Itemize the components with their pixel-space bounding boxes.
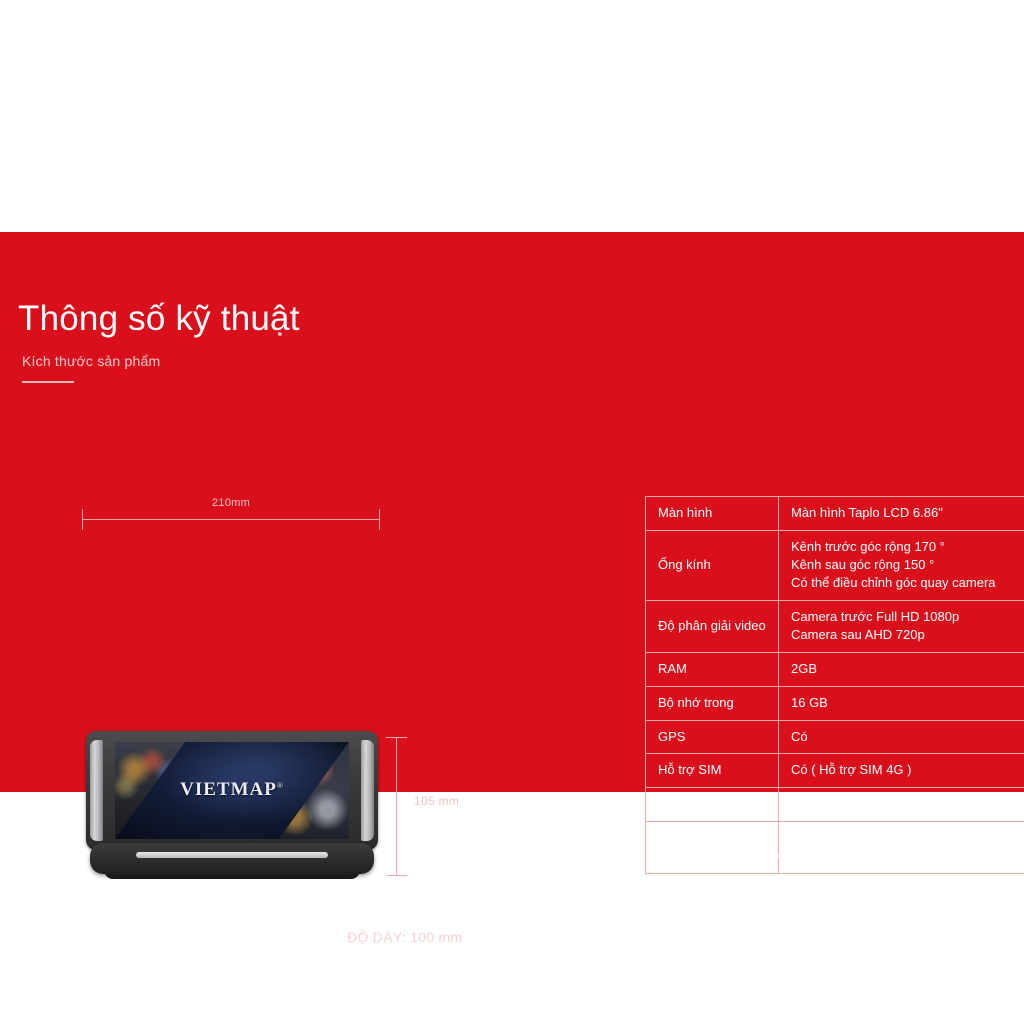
height-dimension-marker: 105 mm [378,734,488,879]
title-underline-rule [22,381,74,383]
spec-value-line: MicroSD card (Hỗ trợ thẻ tối đa [791,829,1024,847]
spec-value-line: Có thể điều chỉnh góc quay camera [791,574,1024,592]
table-row: Hỗ trợ SIMCó ( Hỗ trợ SIM 4G ) [646,754,1024,788]
spec-value-line: Kênh sau góc rộng 150 ° [791,556,1024,574]
width-dimension-right-cap [379,509,380,530]
thickness-swatch [313,926,335,948]
specification-note: Cần tối thiểu thẻ nhớ MicroSD 8GB Class … [650,848,995,867]
spec-value-line: Màn hình Taplo LCD 6.86" [791,504,1024,522]
spec-value-cell: Camera trước Full HD 1080pCamera sau AHD… [779,600,1024,652]
spec-key-cell: GPS [646,720,779,754]
spec-key-cell: Hỗ trợ SIM [646,754,779,788]
spec-value-cell: Kênh trước góc rộng 170 °Kênh sau góc rộ… [779,530,1024,600]
heading-block: Thông số kỹ thuật Kích thước sản phẩm [18,300,578,383]
specification-table-body: Màn hìnhMàn hình Taplo LCD 6.86"Ống kính… [646,497,1024,874]
table-row: Độ phân giải videoCamera trước Full HD 1… [646,600,1024,652]
red-banner-panel: Thông số kỹ thuật Kích thước sản phẩm 21… [0,232,1024,792]
spec-value-cell: 2GB [779,652,1024,686]
thickness-legend: ĐỘ DÀY: 100 mm [313,926,462,948]
spec-key-cell: Độ phân giải video [646,600,779,652]
device-left-side-strip [90,740,103,841]
width-dimension-line [82,519,380,520]
width-dimension-label: 210mm [82,497,380,509]
spec-value-line: Có ( Hỗ trợ SIM 4G ) [791,761,1024,779]
spec-value-line: Có [791,728,1024,746]
device-illustration: VIETMAP® [86,731,378,881]
spec-value-cell: Có [779,720,1024,754]
spec-value-cell: DC 12V/24V 3A [779,788,1024,822]
spec-key-cell: RAM [646,652,779,686]
height-dimension-label: 105 mm [414,794,459,808]
thickness-label: ĐỘ DÀY: 100 mm [347,929,462,945]
spec-key-cell: Bộ nhớ trong [646,686,779,720]
device-body: VIETMAP® [86,731,378,850]
screen-brand-logo-text: VIETMAP [180,779,277,800]
registered-trademark-icon: ® [277,781,284,790]
spec-value-line: 16 GB [791,694,1024,712]
spec-value-line: Kênh trước góc rộng 170 ° [791,538,1024,556]
spec-value-line: DC 12V/24V 3A [791,795,1024,813]
specification-table: Màn hìnhMàn hình Taplo LCD 6.86"Ống kính… [645,496,1024,874]
screen-brand-logo: VIETMAP® [115,779,349,801]
spec-value-cell: 16 GB [779,686,1024,720]
table-row: GPSCó [646,720,1024,754]
table-row: Màn hìnhMàn hình Taplo LCD 6.86" [646,497,1024,531]
device-right-side-strip [361,740,374,841]
device-base-light-strip [136,852,328,858]
spec-value-line: 2GB [791,660,1024,678]
spec-key-cell: Ống kính [646,530,779,600]
spec-value-line: Camera trước Full HD 1080p [791,608,1024,626]
spec-value-cell: Có ( Hỗ trợ SIM 4G ) [779,754,1024,788]
height-dimension-line [396,737,397,875]
device-foot [104,869,360,879]
spec-value-cell: Màn hình Taplo LCD 6.86" [779,497,1024,531]
width-dimension-marker: 210mm [82,497,380,527]
page-subtitle: Kích thước sản phẩm [22,353,578,369]
table-row: RAM2GB [646,652,1024,686]
device-screen: VIETMAP® [115,742,349,839]
table-row: Nguồn điệnDC 12V/24V 3A [646,788,1024,822]
page-title: Thông số kỹ thuật [18,300,578,339]
table-row: Bộ nhớ trong16 GB [646,686,1024,720]
table-row: Ống kínhKênh trước góc rộng 170 °Kênh sa… [646,530,1024,600]
product-dimension-figure: 210mm 105 mm VIETMAP® [0,452,620,752]
height-dimension-bottom-cap [386,875,407,876]
spec-key-cell: Màn hình [646,497,779,531]
spec-key-cell: Nguồn điện [646,788,779,822]
spec-value-line: Camera sau AHD 720p [791,626,1024,644]
